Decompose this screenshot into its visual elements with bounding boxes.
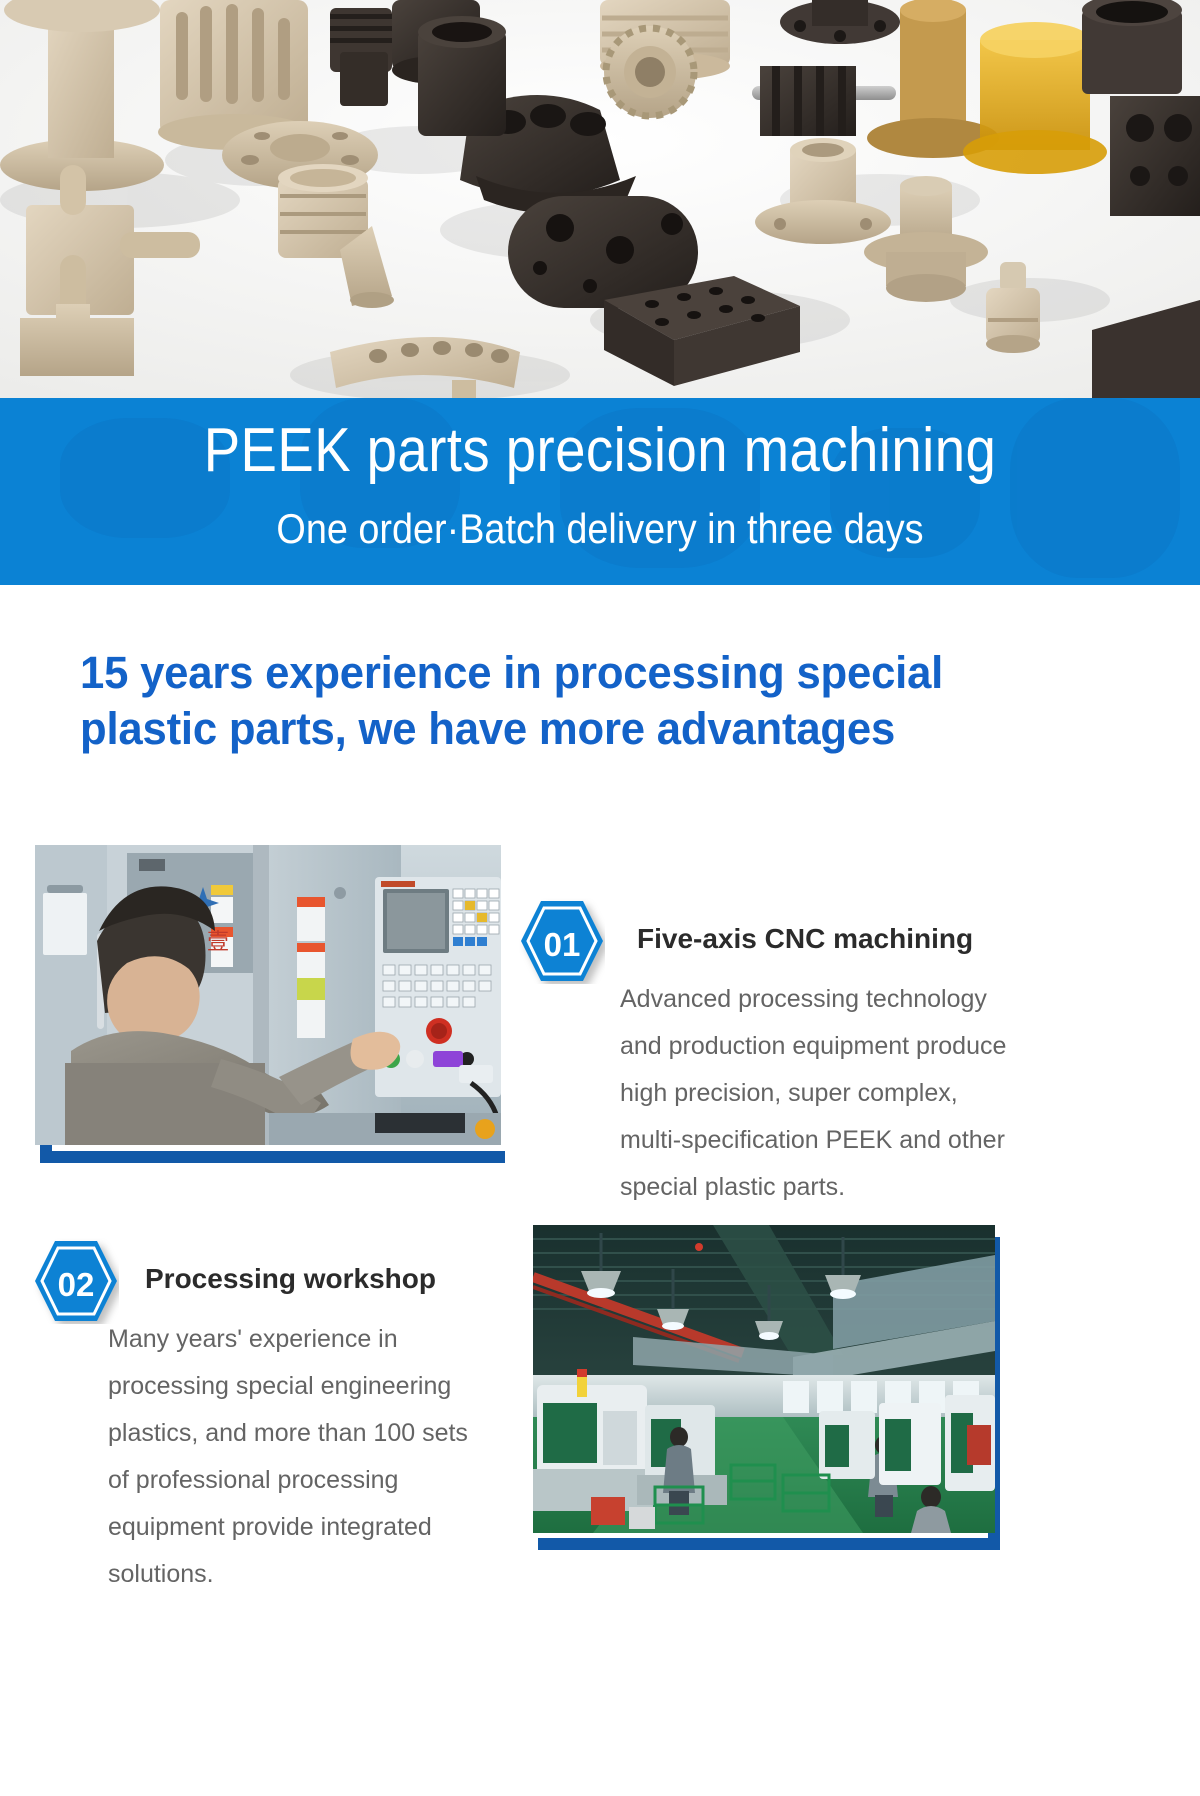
banner-subtitle: One order·Batch delivery in three days (60, 508, 1140, 550)
section-01-body-line-1: Advanced processing technology (620, 976, 1050, 1023)
lead-heading: 15 years experience in processing specia… (80, 645, 1140, 757)
section-01-number: 01 (544, 926, 581, 963)
section-02-body-line-5: equipment provide integrated (108, 1504, 528, 1551)
section-02-photo (533, 1225, 995, 1533)
banner-title: PEEK parts precision machining (72, 420, 1128, 482)
section-02-number-badge: 02 (33, 1238, 119, 1324)
section-01-body-line-3: high precision, super complex, (620, 1070, 1050, 1117)
section-02-body-line-2: processing special engineering (108, 1363, 528, 1410)
section-02-body: Many years' experience in processing spe… (108, 1316, 528, 1598)
hexagon-badge-icon: 01 (519, 898, 605, 984)
section-01-title: Five-axis CNC machining (637, 922, 973, 956)
section-02-body-line-4: of professional processing (108, 1457, 528, 1504)
section-02-body-line-3: plastics, and more than 100 sets (108, 1410, 528, 1457)
frame-bar-bottom (40, 1151, 505, 1163)
cnc-operator-illustration: 壹 (35, 845, 501, 1145)
workshop-illustration (533, 1225, 995, 1533)
lead-heading-line-1: 15 years experience in processing specia… (80, 645, 1108, 701)
hero-parts-illustration (0, 0, 1200, 400)
section-02-title: Processing workshop (145, 1262, 436, 1296)
svg-text:壹: 壹 (207, 930, 229, 955)
section-02-image-frame (533, 1225, 1003, 1550)
frame-bar-bottom (538, 1538, 1000, 1550)
section-01-number-badge: 01 (519, 898, 605, 984)
section-02-number: 02 (58, 1266, 95, 1303)
section-01-image-frame: 壹 (35, 845, 505, 1163)
section-02-body-line-6: solutions. (108, 1551, 528, 1598)
section-01-body-line-5: special plastic parts. (620, 1164, 1050, 1211)
section-01-body: Advanced processing technology and produ… (620, 976, 1050, 1211)
hero-banner: PEEK parts precision machining One order… (0, 398, 1200, 585)
lead-heading-line-2: plastic parts, we have more advantages (80, 701, 1108, 757)
hero-image (0, 0, 1200, 400)
section-01-body-line-4: multi-specification PEEK and other (620, 1117, 1050, 1164)
hexagon-badge-icon: 02 (33, 1238, 119, 1324)
section-01-body-line-2: and production equipment produce (620, 1023, 1050, 1070)
section-02-body-line-1: Many years' experience in (108, 1316, 528, 1363)
section-01-photo: 壹 (35, 845, 501, 1145)
